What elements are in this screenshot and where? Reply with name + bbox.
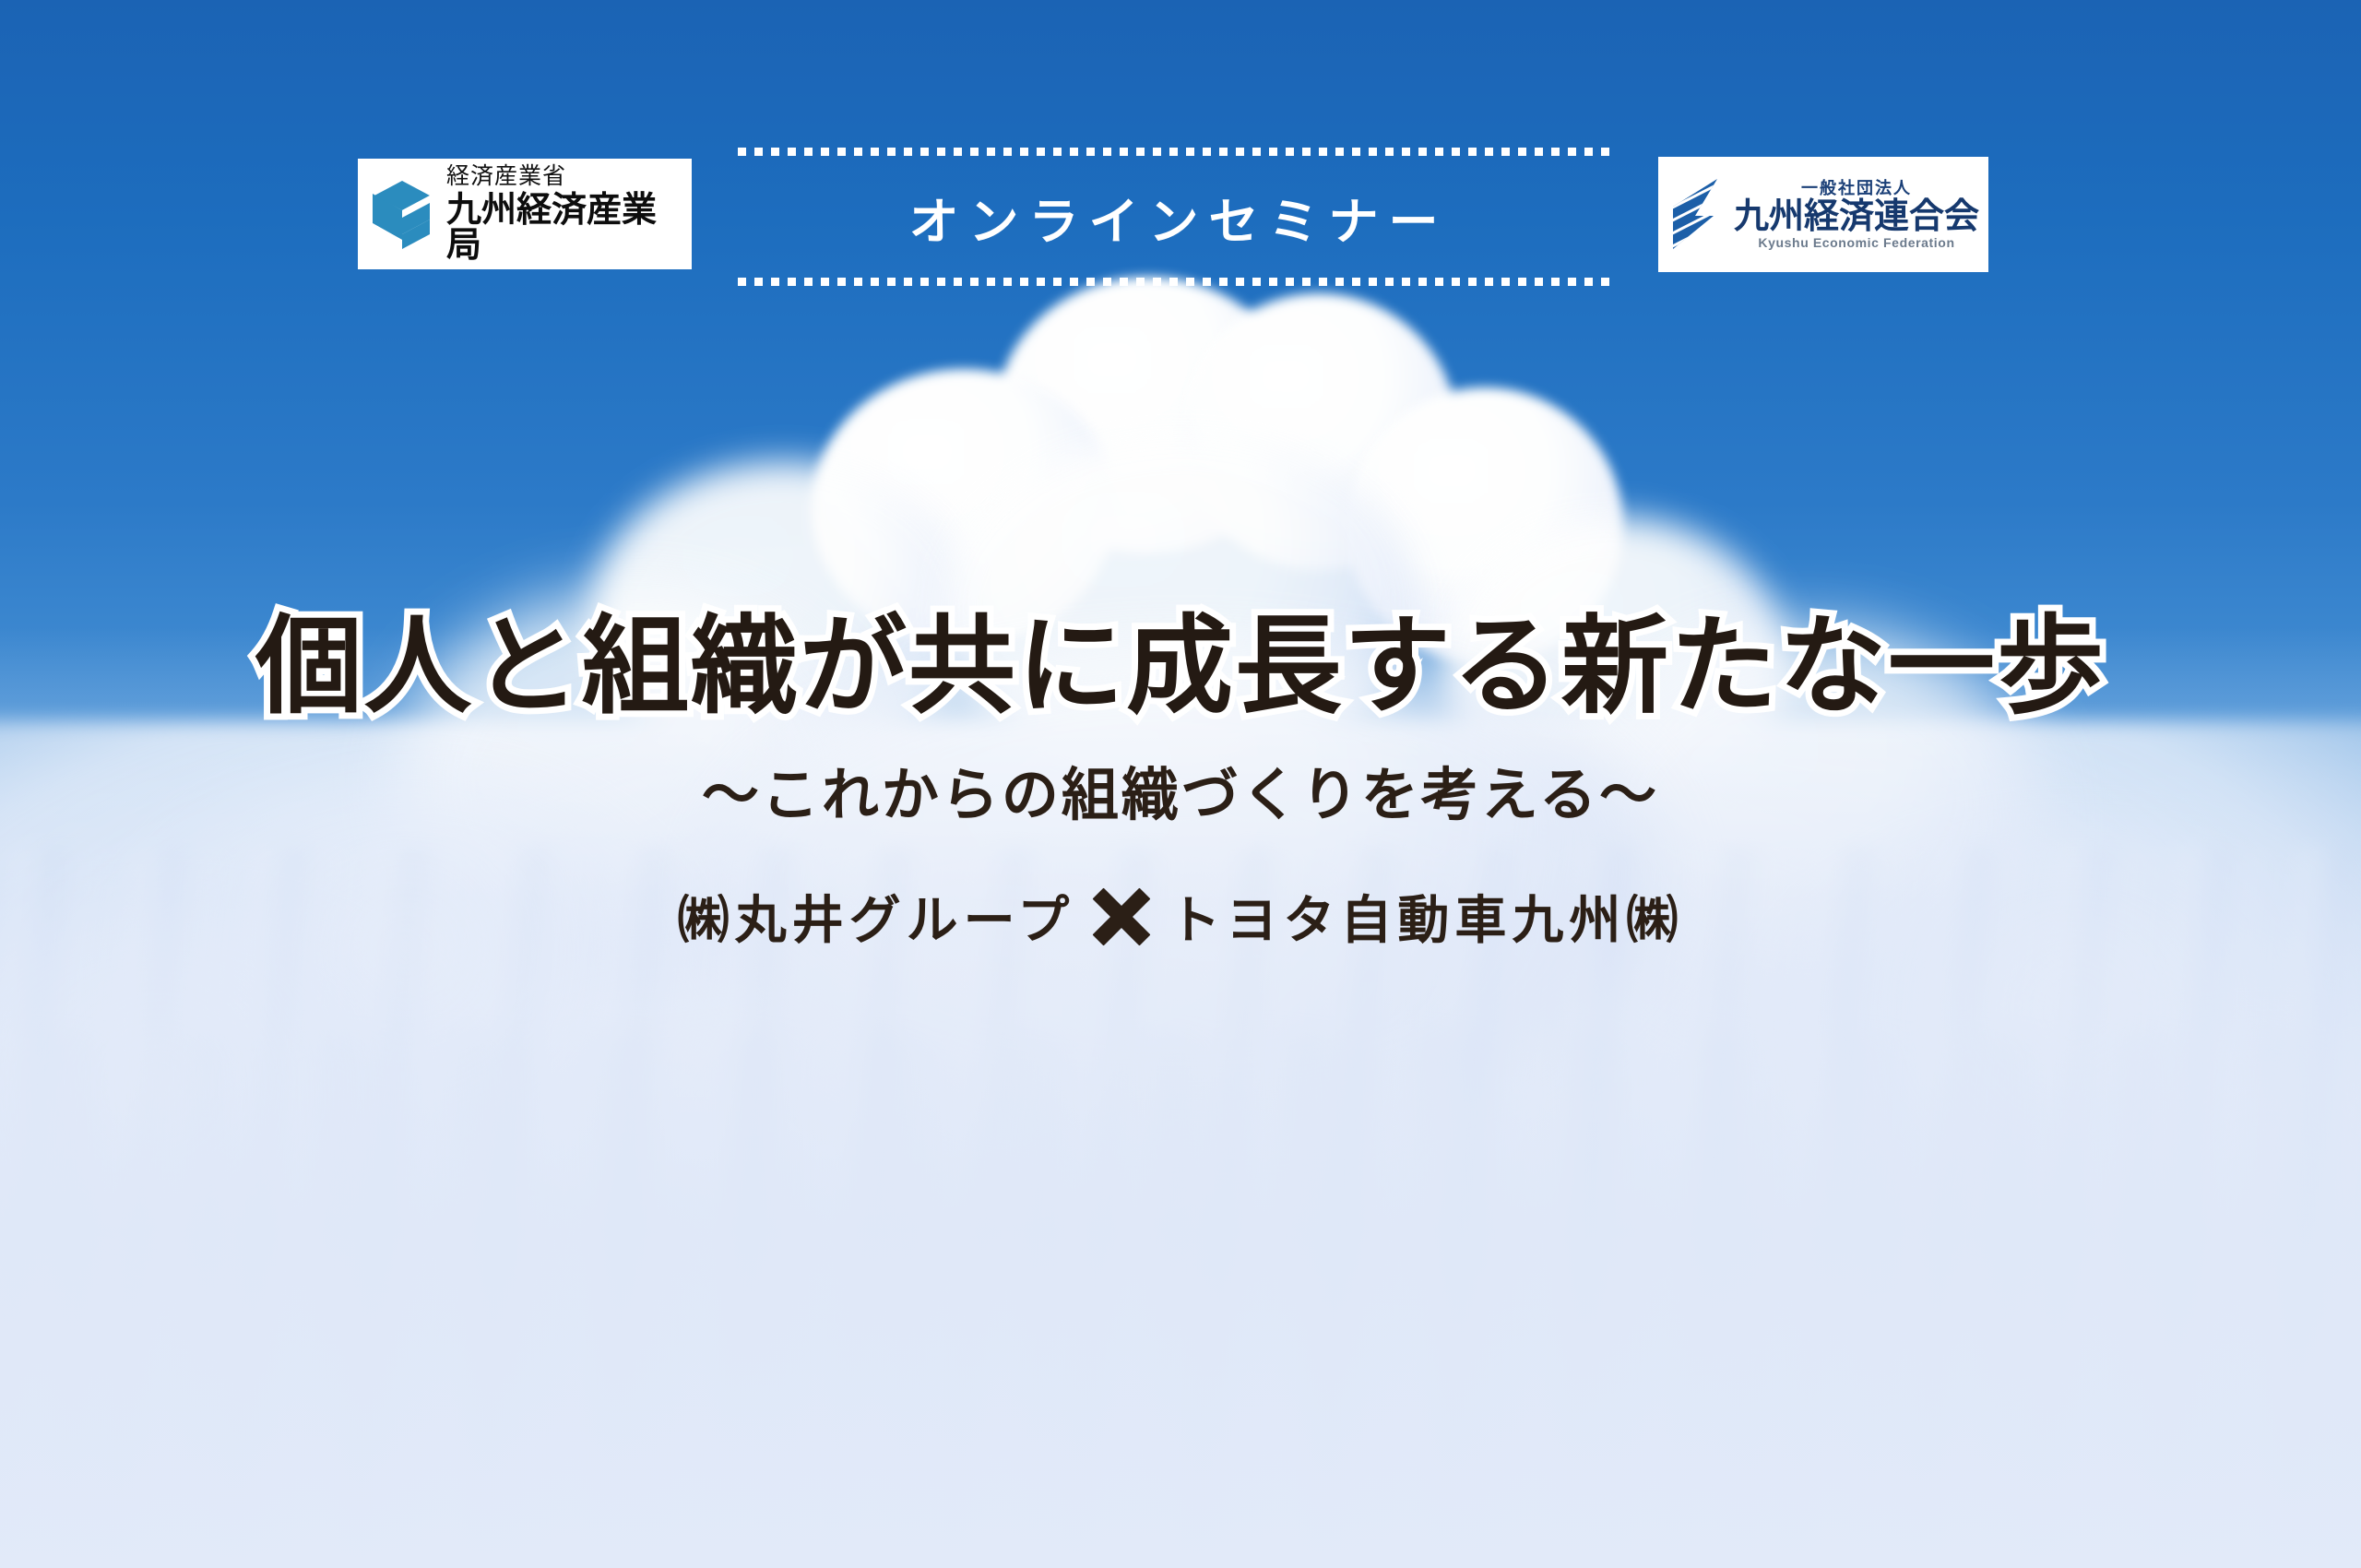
presenter-left-label: ㈱丸井グループ [678, 879, 1075, 954]
header-bar: 経済産業省 九州経済産業局 オンラインセミナー [0, 0, 2361, 277]
meti-mark-icon [371, 175, 432, 253]
banner-top-dotted-rule [738, 148, 1609, 156]
meti-ministry-label: 経済産業省 [446, 165, 566, 188]
presenters-line: ㈱丸井グループ トヨタ自動車九州㈱ [0, 879, 2361, 954]
kyushu-economic-federation-logo: 一般社団法人 九州経済連合会 Kyushu Economic Federatio… [1658, 157, 1988, 272]
kef-corporate-type-label: 一般社団法人 [1801, 180, 1912, 196]
kef-organization-label: 九州経済連合会 [1734, 199, 1979, 234]
page-title: 個人と組織が共に成長する新たな一歩 [0, 609, 2361, 724]
banner-bottom-dotted-rule [738, 278, 1609, 286]
meti-bureau-label: 九州経済産業局 [446, 193, 679, 263]
main-copy-block: 個人と組織が共に成長する新たな一歩 〜これからの組織づくりを考える〜 ㈱丸井グル… [0, 609, 2361, 954]
cross-icon [1095, 890, 1148, 944]
seminar-title-slide: 経済産業省 九州経済産業局 オンラインセミナー [0, 0, 2361, 1568]
presenter-right-label: トヨタ自動車九州㈱ [1169, 879, 1683, 954]
kef-mark-icon [1667, 175, 1725, 255]
online-seminar-banner: オンラインセミナー [738, 148, 1609, 286]
kef-english-label: Kyushu Economic Federation [1758, 236, 1954, 249]
meti-kyushu-logo: 経済産業省 九州経済産業局 [358, 159, 692, 269]
banner-label: オンラインセミナー [899, 181, 1449, 254]
page-subtitle: 〜これからの組織づくりを考える〜 [0, 748, 2361, 831]
